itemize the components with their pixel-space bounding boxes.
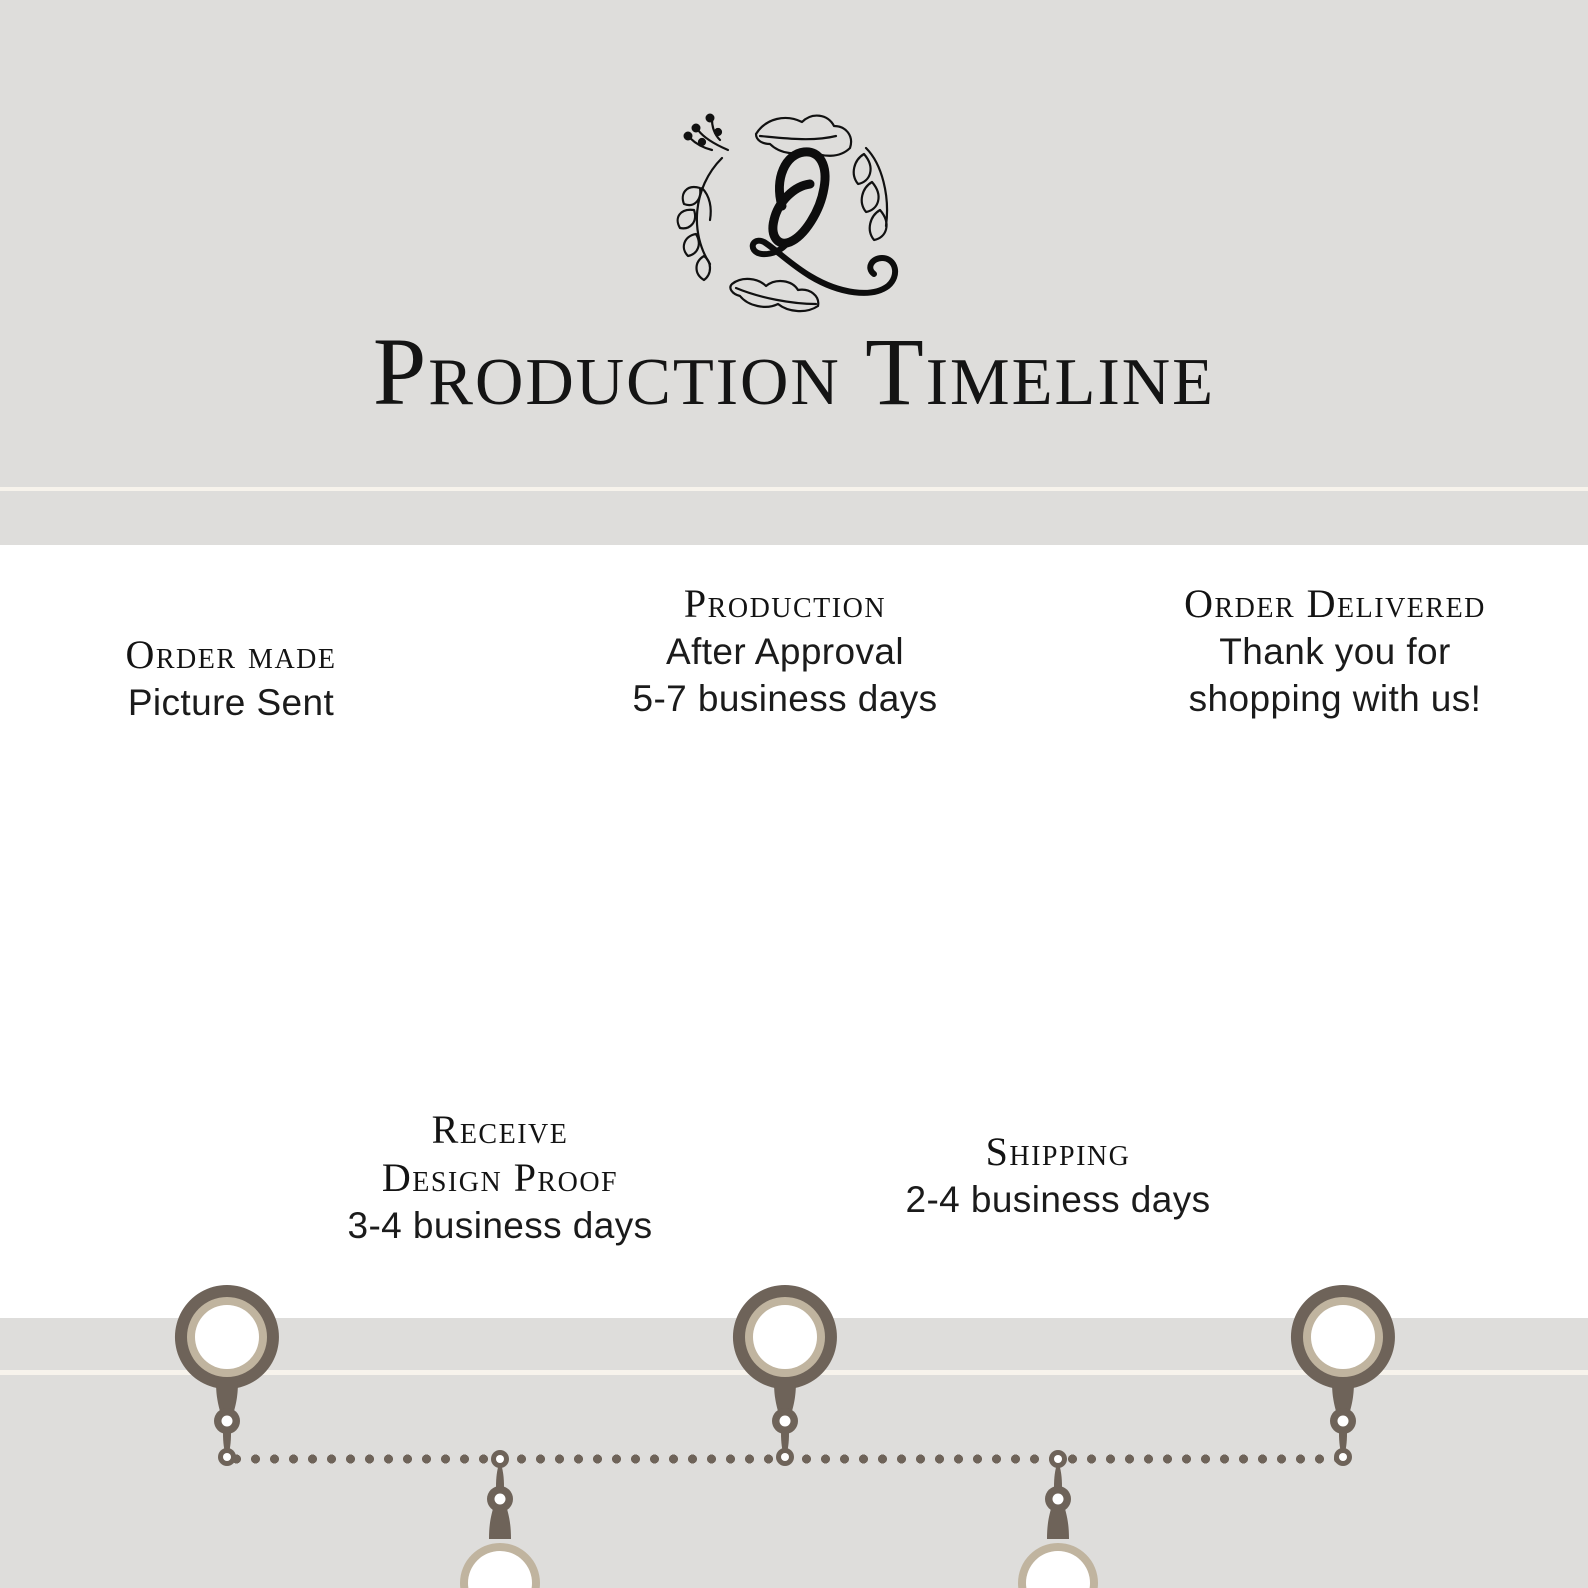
production-timeline-graphic: Production Timeline — [0, 0, 1588, 1588]
header-background-band-lower — [0, 491, 1588, 545]
step-label-shipping: Shipping 2-4 business days — [858, 1128, 1258, 1223]
step-label-receive-design-proof: Receive Design Proof 3-4 business days — [290, 1106, 710, 1249]
step-label-order-delivered: Order Delivered Thank you for shopping w… — [1120, 580, 1550, 723]
step-title-design-proof: Design Proof — [290, 1154, 710, 1202]
step-detail-production-1: After Approval — [575, 628, 995, 675]
ring-pin-down-icon — [440, 1459, 560, 1588]
step-title-order-made: Order made — [31, 631, 431, 679]
ring-pin-down-icon — [998, 1459, 1118, 1588]
ring-pin-up-icon — [167, 1281, 287, 1461]
step-title-order-delivered: Order Delivered — [1120, 580, 1550, 628]
step-title-receive: Receive — [290, 1106, 710, 1154]
ring-pin-up-icon — [1283, 1281, 1403, 1461]
step-detail-order-delivered-1: Thank you for — [1120, 628, 1550, 675]
ring-pin-up-icon — [725, 1281, 845, 1461]
step-label-order-made: Order made Picture Sent — [31, 631, 431, 726]
step-label-production: Production After Approval 5-7 business d… — [575, 580, 995, 723]
page-title: Production Timeline — [0, 322, 1588, 423]
step-detail-production-2: 5-7 business days — [575, 675, 995, 722]
step-detail-receive-design-proof-1: 3-4 business days — [290, 1202, 710, 1249]
step-title-production: Production — [575, 580, 995, 628]
monogram-q-wreath-icon — [614, 92, 974, 320]
step-detail-shipping-1: 2-4 business days — [858, 1176, 1258, 1223]
brand-logo — [614, 92, 974, 320]
step-detail-order-made-1: Picture Sent — [31, 679, 431, 726]
step-title-shipping: Shipping — [858, 1128, 1258, 1176]
step-detail-order-delivered-2: shopping with us! — [1120, 675, 1550, 722]
